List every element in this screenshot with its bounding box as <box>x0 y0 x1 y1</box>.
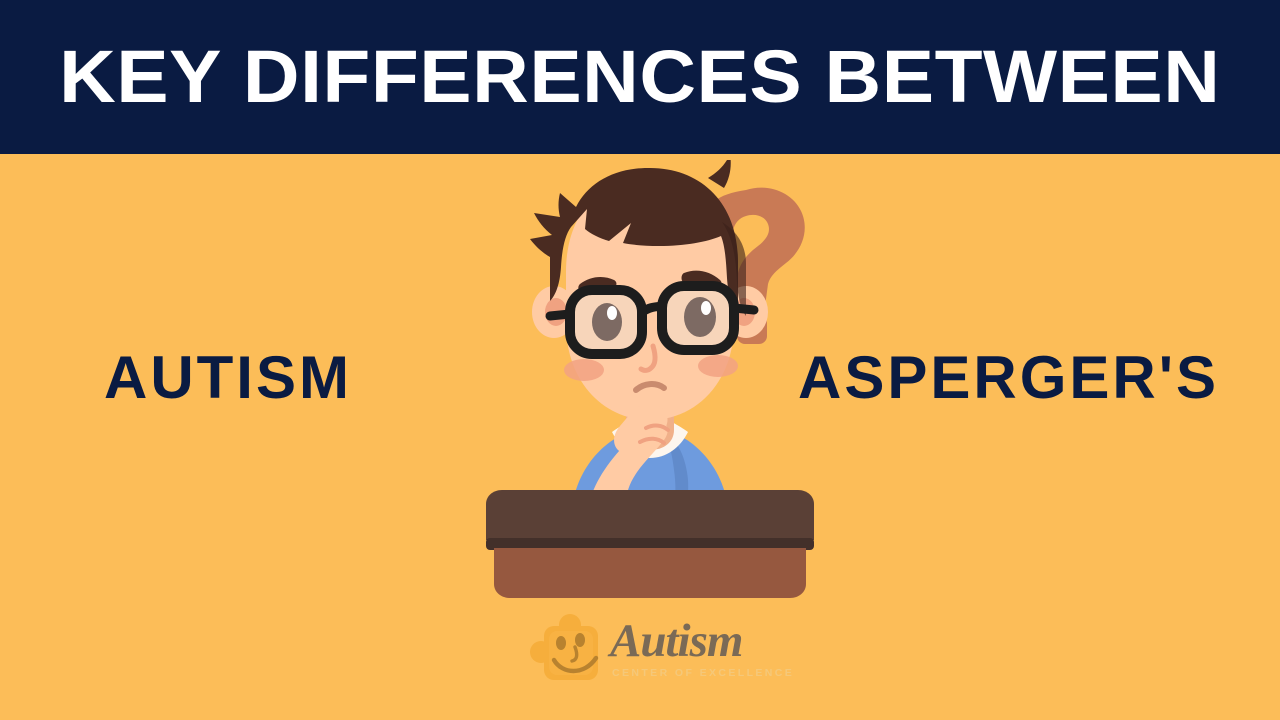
poster-canvas: KEY DIFFERENCES BETWEEN AUTISM ASPERGER'… <box>0 0 1280 720</box>
desk <box>486 490 814 598</box>
header-band: KEY DIFFERENCES BETWEEN <box>0 0 1280 154</box>
label-aspergers: ASPERGER'S <box>798 348 1219 408</box>
logo-name-text: Autism <box>610 618 742 665</box>
thinking-boy-svg <box>450 160 850 600</box>
logo-wordmark: Autism CENTER OF EXCELLENCE <box>610 618 770 688</box>
page-title: KEY DIFFERENCES BETWEEN <box>59 40 1220 114</box>
puzzle-smiley-icon <box>528 614 606 688</box>
autism-center-logo: Autism CENTER OF EXCELLENCE <box>528 612 768 696</box>
label-autism: AUTISM <box>104 348 352 408</box>
thinking-boy-illustration <box>450 160 850 600</box>
logo-tagline-text: CENTER OF EXCELLENCE <box>612 668 794 679</box>
